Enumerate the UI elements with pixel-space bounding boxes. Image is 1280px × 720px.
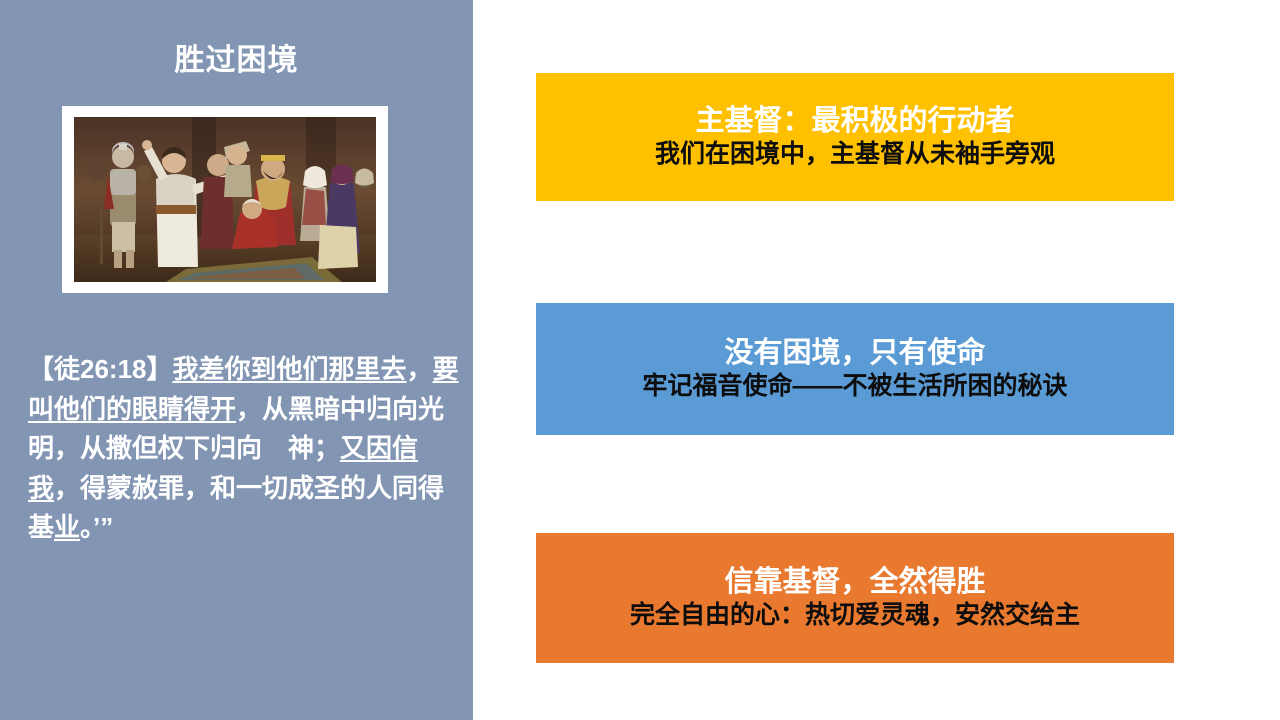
scripture-text: 【徒26:18】我差你到他们那里去，要叫他们的眼睛得开，从黑暗中归向光明，从撒但… (28, 350, 468, 548)
scripture-seg-1: 我差你到他们那里去 (173, 354, 407, 384)
scripture-reference: 【徒26:18】 (28, 354, 173, 384)
painting-image (74, 117, 376, 282)
photo-frame (62, 106, 388, 293)
scripture-seg-2: ， (407, 354, 433, 384)
scripture-seg-8: 。’” (80, 512, 113, 542)
panel-subheading: 牢记福音使命——不被生活所困的秘诀 (642, 371, 1067, 402)
sidebar-panel: 胜过困境 (0, 0, 473, 720)
content-panel-yellow[interactable]: 主基督：最积极的行动者 我们在困境中，主基督从未袖手旁观 (536, 73, 1174, 201)
scripture-seg-7: 业 (54, 512, 80, 542)
page-title: 胜过困境 (0, 44, 473, 77)
content-panel-blue[interactable]: 没有困境，只有使命 牢记福音使命——不被生活所困的秘诀 (536, 303, 1174, 435)
panel-subheading: 完全自由的心：热切爱灵魂，安然交给主 (630, 600, 1080, 631)
panel-subheading: 我们在困境中，主基督从未袖手旁观 (655, 139, 1055, 170)
panel-heading: 没有困境，只有使命 (724, 336, 985, 371)
panel-heading: 主基督：最积极的行动者 (695, 104, 1014, 139)
panel-heading: 信靠基督，全然得胜 (724, 565, 985, 600)
content-panel-orange[interactable]: 信靠基督，全然得胜 完全自由的心：热切爱灵魂，安然交给主 (536, 533, 1174, 663)
